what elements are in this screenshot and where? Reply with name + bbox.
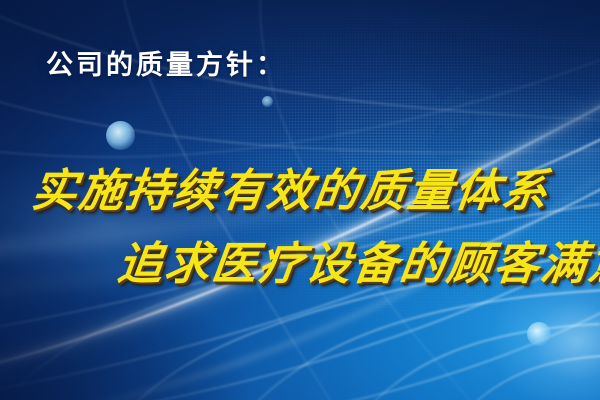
slide-canvas: 公司的质量方针： 实施持续有效的质量体系 追求医疗设备的顾客满意 [0,0,600,400]
page-title: 公司的质量方针： [46,52,286,79]
slogan-line-1: 实施持续有效的质量体系 [29,168,552,213]
slogan-line-2: 追求医疗设备的顾客满意 [115,241,600,286]
